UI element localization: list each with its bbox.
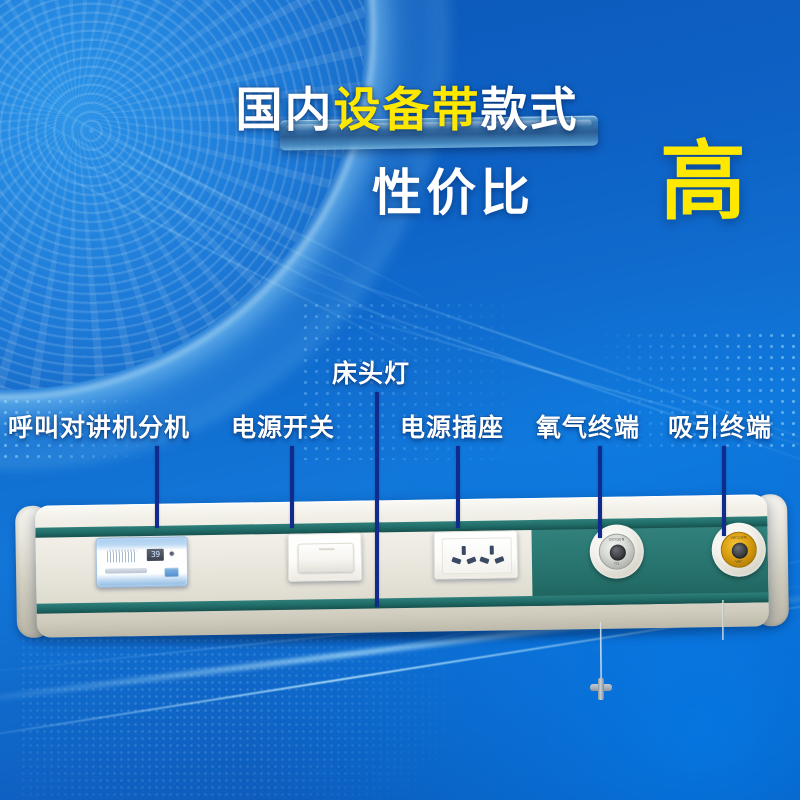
callout-line-oxygen [598, 446, 602, 538]
promo-banner: 国内设备带款式 性价比 高 呼叫对讲机分机 电源开关 床头灯 电源插座 氧气终端… [0, 0, 800, 800]
callout-line-bed-lamp [375, 392, 379, 607]
callout-label-power-switch: 电源开关 [231, 414, 335, 442]
callout-line-power-switch [290, 446, 294, 528]
callout-label-power-socket: 电源插座 [400, 414, 504, 442]
callout-label-intercom: 呼叫对讲机分机 [8, 414, 190, 442]
callout-group: 呼叫对讲机分机 电源开关 床头灯 电源插座 氧气终端 吸引终端 [0, 0, 800, 800]
callout-label-oxygen: 氧气终端 [536, 414, 640, 442]
callout-line-suction [722, 446, 726, 536]
callout-label-suction: 吸引终端 [668, 414, 772, 442]
callout-label-bed-lamp: 床头灯 [332, 360, 410, 388]
callout-line-power-socket [456, 446, 460, 528]
callout-line-intercom [155, 446, 159, 528]
